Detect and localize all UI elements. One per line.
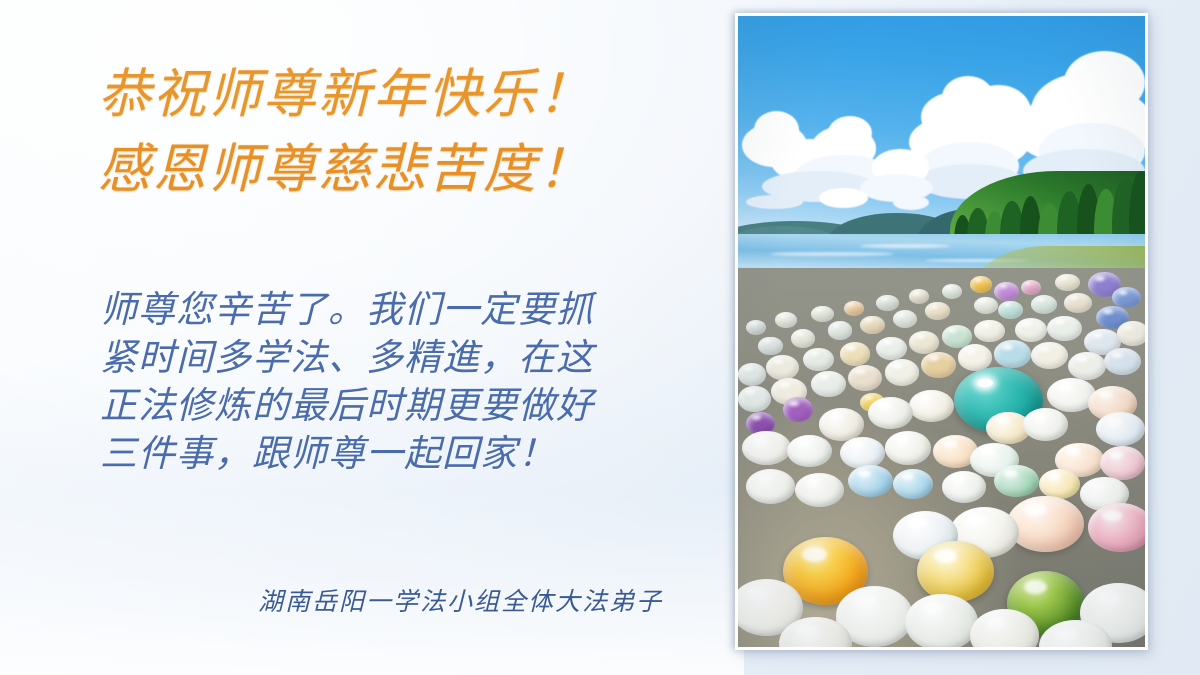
body-line-3: 正法修炼的最后时期更要做好 (100, 382, 660, 430)
body-message: 师尊您辛苦了。我们一定要抓 紧时间多学法、多精進，在这 正法修炼的最后时期更要做… (100, 286, 660, 478)
body-line-1: 师尊您辛苦了。我们一定要抓 (100, 286, 660, 334)
sea-glass-pebble-field (738, 268, 1145, 647)
greeting-card: 恭祝师尊新年快乐！ 感恩师尊慈悲苦度！ 师尊您辛苦了。我们一定要抓 紧时间多学法… (0, 0, 1200, 675)
headline-line-1: 恭祝师尊新年快乐！ (98, 68, 593, 121)
photo-frame (735, 13, 1148, 650)
text-panel: 恭祝师尊新年快乐！ 感恩师尊慈悲苦度！ 师尊您辛苦了。我们一定要抓 紧时间多学法… (0, 0, 720, 675)
signature-line: 湖南岳阳一学法小组全体大法弟子 (258, 582, 663, 618)
headline-line-2: 感恩师尊慈悲苦度！ (98, 143, 593, 196)
beach-pebbles-photo (738, 16, 1145, 647)
rose-pebble (1088, 503, 1145, 552)
amber-glass-pebble (917, 541, 994, 602)
body-line-2: 紧时间多学法、多精進，在这 (100, 334, 660, 382)
body-line-4: 三件事，跟师尊一起回家！ (100, 430, 660, 478)
peach-pebble (1007, 496, 1084, 553)
